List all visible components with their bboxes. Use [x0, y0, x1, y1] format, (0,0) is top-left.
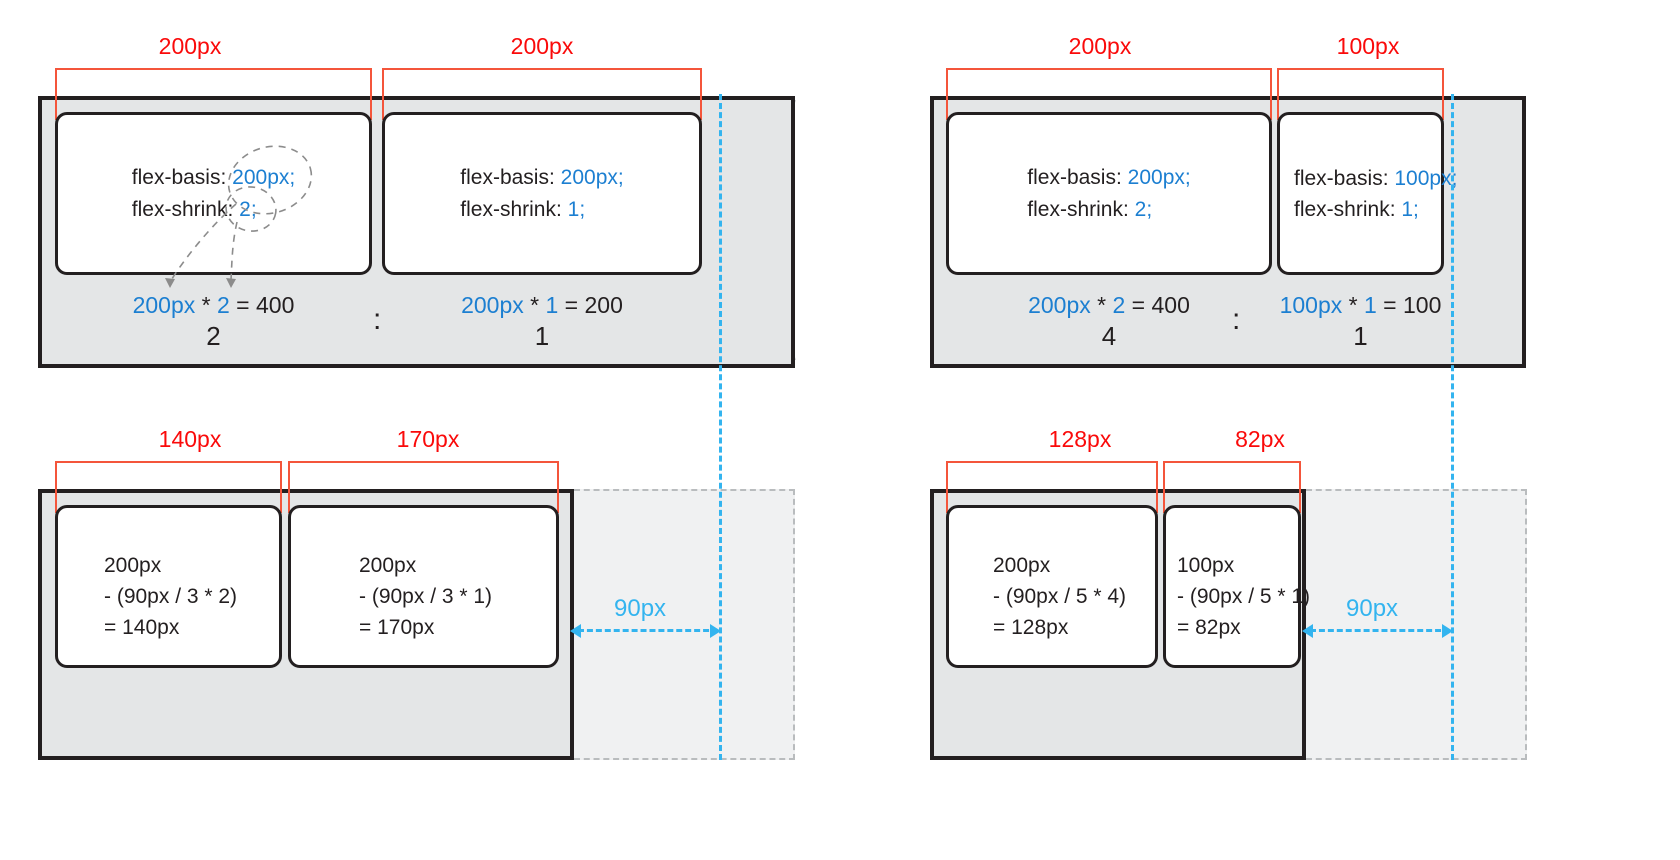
calc-line2-br-1: - (90px / 5 * 4) [993, 581, 1126, 612]
calc-eq-tl-2: = 200 [558, 292, 623, 318]
calc-line3-br-1: = 128px [993, 612, 1126, 643]
calc-shrink-tl-1: 2 [217, 292, 230, 318]
flex-item-bl-2: 200px - (90px / 3 * 1) = 170px [288, 505, 559, 668]
overflow-guide-line-left [719, 94, 722, 760]
calc-tr-1: 200px * 2 = 400 4 [946, 292, 1272, 352]
dimension-label-tr-1: 200px [1020, 33, 1180, 60]
ratio-separator-tl: : [373, 305, 381, 335]
calc-line3-br-2: = 82px [1177, 612, 1310, 643]
calc-line2-bl-2: - (90px / 3 * 1) [359, 581, 492, 612]
flex-shrink-value-tr-1: 2; [1135, 198, 1153, 221]
flex-item-br-2: 100px - (90px / 5 * 1) = 82px [1163, 505, 1301, 668]
calc-line1-bl-1: 200px [104, 550, 237, 581]
flex-shrink-value-tl-2: 1; [568, 198, 586, 221]
calc-tl-2: 200px * 1 = 200 1 [382, 292, 702, 352]
dimension-label-bl-2: 170px [348, 426, 508, 453]
flex-shrink-label-tl-1: flex-shrink: [132, 198, 234, 221]
flex-basis-value-tr-1: 200px; [1128, 166, 1191, 189]
flex-shrink-label-tl-2: flex-shrink: [460, 198, 562, 221]
dimension-label-tl-2: 200px [462, 33, 622, 60]
flex-item-tl-1: flex-basis: 200px; flex-shrink: 2; [55, 112, 372, 275]
calc-basis-tl-2: 200px [461, 292, 524, 318]
calc-basis-tl-1: 200px [133, 292, 196, 318]
flex-item-tl-2: flex-basis: 200px; flex-shrink: 1; [382, 112, 702, 275]
calc-tl-1: 200px * 2 = 400 2 [55, 292, 372, 352]
calc-op-tl-1: * [195, 292, 217, 318]
ratio-tl-2: 1 [382, 321, 702, 352]
flex-basis-value-tr-2: 100px; [1394, 167, 1457, 190]
flex-basis-label-tl-1: flex-basis: [132, 166, 227, 189]
calc-shrink-tl-2: 1 [546, 292, 559, 318]
overflow-arrow-left-bl [570, 624, 581, 638]
diagram-canvas: 200px 200px flex-basis: 200px; flex-shri… [0, 0, 1680, 860]
flex-item-tr-2: flex-basis: 100px; flex-shrink: 1; [1277, 112, 1444, 275]
flex-basis-value-tl-1: 200px; [232, 166, 295, 189]
flex-basis-value-tl-2: 200px; [561, 166, 624, 189]
overflow-measure-line-br [1310, 629, 1450, 632]
calc-op-tl-2: * [524, 292, 546, 318]
ratio-tr-2: 1 [1268, 321, 1453, 352]
ratio-tr-1: 4 [946, 321, 1272, 352]
overflow-measure-label-br: 90px [1346, 595, 1398, 623]
calc-basis-tr-1: 200px [1028, 292, 1091, 318]
calc-line1-bl-2: 200px [359, 550, 492, 581]
calc-line3-bl-2: = 170px [359, 612, 492, 643]
flex-basis-label-tr-2: flex-basis: [1294, 167, 1389, 190]
flex-shrink-value-tr-2: 1; [1401, 198, 1419, 221]
flex-basis-label-tr-1: flex-basis: [1027, 166, 1122, 189]
flex-item-bl-1: 200px - (90px / 3 * 2) = 140px [55, 505, 282, 668]
overflow-ghost-bl [574, 489, 795, 760]
calc-basis-tr-2: 100px [1280, 292, 1343, 318]
flex-shrink-value-tl-1: 2; [239, 198, 257, 221]
flex-basis-label-tl-2: flex-basis: [460, 166, 555, 189]
calc-eq-tr-1: = 400 [1125, 292, 1190, 318]
calc-shrink-tr-2: 1 [1364, 292, 1377, 318]
calc-line2-br-2: - (90px / 5 * 1) [1177, 581, 1310, 612]
flex-item-br-1: 200px - (90px / 5 * 4) = 128px [946, 505, 1158, 668]
calc-eq-tr-2: = 100 [1377, 292, 1442, 318]
calc-line1-br-1: 200px [993, 550, 1126, 581]
ratio-separator-tr: : [1232, 305, 1240, 335]
calc-eq-tl-1: = 400 [230, 292, 295, 318]
overflow-guide-line-right [1451, 94, 1454, 760]
flex-shrink-label-tr-1: flex-shrink: [1027, 198, 1129, 221]
calc-line1-br-2: 100px [1177, 550, 1310, 581]
ratio-tl-1: 2 [55, 321, 372, 352]
overflow-arrow-left-br [1302, 624, 1313, 638]
dimension-label-br-1: 128px [1000, 426, 1160, 453]
calc-tr-2: 100px * 1 = 100 1 [1268, 292, 1453, 352]
overflow-measure-line-bl [578, 629, 718, 632]
calc-shrink-tr-1: 2 [1113, 292, 1126, 318]
calc-line2-bl-1: - (90px / 3 * 2) [104, 581, 237, 612]
calc-line3-bl-1: = 140px [104, 612, 237, 643]
overflow-ghost-br [1306, 489, 1527, 760]
dimension-label-br-2: 82px [1180, 426, 1340, 453]
flex-item-tr-1: flex-basis: 200px; flex-shrink: 2; [946, 112, 1272, 275]
dimension-label-bl-1: 140px [110, 426, 270, 453]
calc-op-tr-1: * [1091, 292, 1113, 318]
flex-shrink-label-tr-2: flex-shrink: [1294, 198, 1396, 221]
overflow-measure-label-bl: 90px [614, 595, 666, 623]
dimension-label-tl-1: 200px [110, 33, 270, 60]
dimension-label-tr-2: 100px [1288, 33, 1448, 60]
calc-op-tr-2: * [1342, 292, 1364, 318]
